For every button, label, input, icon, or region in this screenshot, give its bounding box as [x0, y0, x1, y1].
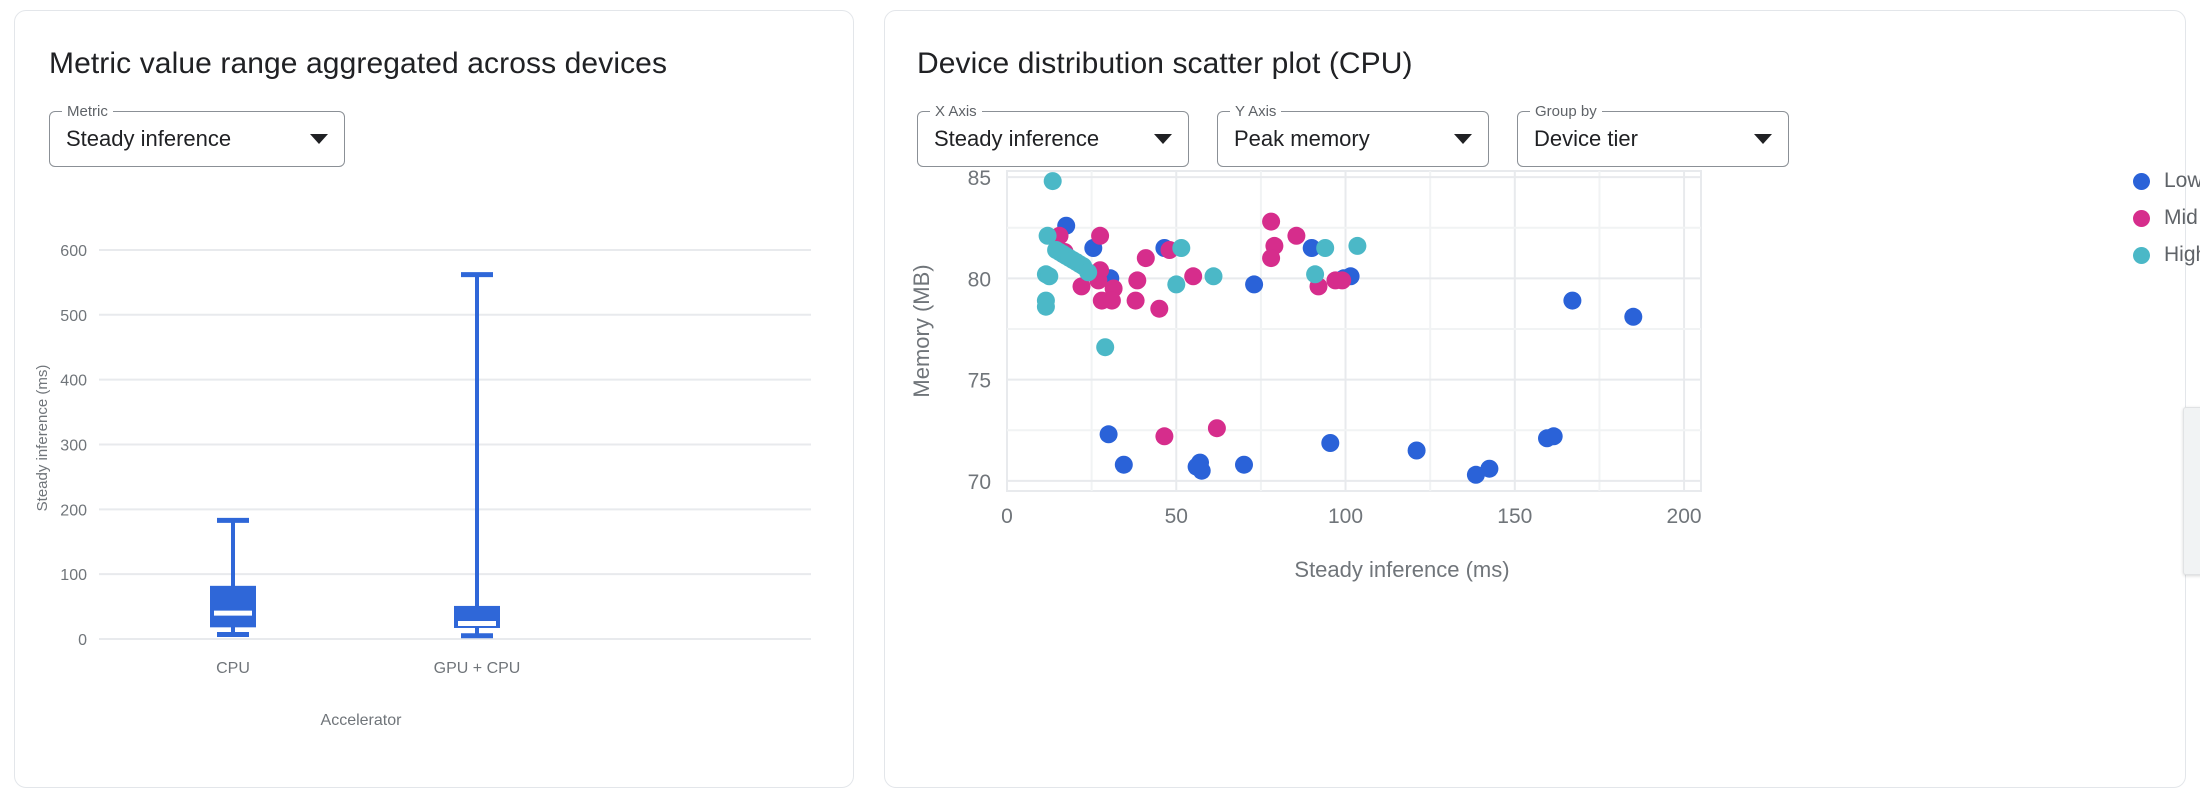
y-axis-select-value: Peak memory — [1234, 126, 1370, 152]
y-tick-label: 100 — [60, 567, 87, 584]
legend-dot-icon — [2133, 210, 2150, 227]
scatter-point[interactable] — [1205, 267, 1223, 285]
scatter-point[interactable] — [1184, 267, 1202, 285]
scatter-point[interactable] — [1128, 271, 1146, 289]
metric-select-value: Steady inference — [66, 126, 231, 152]
scatter-point[interactable] — [1262, 213, 1280, 231]
x-tick-label: 200 — [1667, 505, 1702, 528]
y-tick-label: 80 — [968, 268, 991, 291]
scatter-point[interactable] — [1127, 292, 1145, 310]
metric-select-label: Metric — [62, 102, 113, 122]
scatter-point[interactable] — [1316, 239, 1334, 257]
scatter-point[interactable] — [1100, 425, 1118, 443]
dashboard-root: Metric value range aggregated across dev… — [0, 0, 2200, 808]
scatter-point[interactable] — [1115, 456, 1133, 474]
scatter-plot-chart: 05010015020070758085Memory (MB)Steady in… — [895, 151, 2135, 751]
scatter-point[interactable] — [1137, 249, 1155, 267]
scatter-point[interactable] — [1037, 298, 1055, 316]
scatter-point[interactable] — [1079, 263, 1097, 281]
metric-select[interactable]: Metric Steady inference — [49, 111, 345, 167]
legend-item-mid-tier[interactable]: Mid tier — [2133, 206, 2200, 230]
chevron-down-icon — [1454, 134, 1472, 144]
scatter-point[interactable] — [1245, 275, 1263, 293]
scatter-point[interactable] — [1321, 434, 1339, 452]
x-category-label: GPU + CPU — [434, 660, 521, 677]
x-tick-label: 0 — [1001, 505, 1013, 528]
scatter-point[interactable] — [1262, 249, 1280, 267]
scatter-tooltip: Samsung Galaxy A51 - Steady inference (m… — [2183, 407, 2200, 575]
y-tick-label: 70 — [968, 471, 991, 494]
scatter-point[interactable] — [1563, 292, 1581, 310]
scatter-point[interactable] — [1040, 267, 1058, 285]
scatter-point[interactable] — [1096, 338, 1114, 356]
box-plot-chart: 0100200300400500600Steady inference (ms)… — [21, 221, 841, 781]
scatter-point[interactable] — [1091, 227, 1109, 245]
y-tick-label: 500 — [60, 308, 87, 325]
y-axis-title: Memory (MB) — [909, 264, 934, 397]
y-tick-label: 300 — [60, 437, 87, 454]
x-axis-select-value: Steady inference — [934, 126, 1099, 152]
x-tick-label: 100 — [1328, 505, 1363, 528]
chevron-down-icon — [310, 134, 328, 144]
legend-dot-icon — [2133, 173, 2150, 190]
scatter-point[interactable] — [1167, 275, 1185, 293]
scatter-point[interactable] — [1306, 265, 1324, 283]
y-axis-select-label: Y Axis — [1230, 102, 1281, 122]
legend-item-low-tier[interactable]: Low tier — [2133, 169, 2200, 193]
legend-label: High tier — [2164, 243, 2200, 267]
scatter-plot-card: Device distribution scatter plot (CPU) X… — [884, 10, 2186, 788]
legend-label: Low tier — [2164, 169, 2200, 193]
scatter-point[interactable] — [1287, 227, 1305, 245]
x-category-label: CPU — [216, 660, 250, 677]
x-axis-select-label: X Axis — [930, 102, 982, 122]
y-tick-label: 600 — [60, 243, 87, 260]
scatter-point[interactable] — [1348, 237, 1366, 255]
x-tick-label: 150 — [1497, 505, 1532, 528]
scatter-plot-title: Device distribution scatter plot (CPU) — [885, 11, 2185, 81]
y-tick-label: 400 — [60, 373, 87, 390]
legend-item-high-tier[interactable]: High tier — [2133, 243, 2200, 267]
group-by-select-label: Group by — [1530, 102, 1602, 122]
box-plot-card: Metric value range aggregated across dev… — [14, 10, 854, 788]
scatter-point[interactable] — [1208, 419, 1226, 437]
scatter-point[interactable] — [1172, 239, 1190, 257]
scatter-point[interactable] — [1235, 456, 1253, 474]
scatter-point[interactable] — [1150, 300, 1168, 318]
box-plot-controls: Metric Steady inference — [15, 81, 853, 167]
y-tick-label: 0 — [78, 632, 87, 649]
group-by-select-value: Device tier — [1534, 126, 1638, 152]
box-plot-box[interactable] — [210, 586, 256, 627]
y-tick-label: 200 — [60, 502, 87, 519]
box-plot-title: Metric value range aggregated across dev… — [15, 11, 853, 81]
scatter-point[interactable] — [1545, 427, 1563, 445]
y-tick-label: 85 — [968, 167, 991, 190]
x-tick-label: 50 — [1165, 505, 1188, 528]
scatter-point[interactable] — [1193, 462, 1211, 480]
x-axis-title: Accelerator — [321, 712, 403, 729]
x-axis-title: Steady inference (ms) — [1294, 557, 1509, 582]
legend-dot-icon — [2133, 247, 2150, 264]
chevron-down-icon — [1154, 134, 1172, 144]
y-axis-title: Steady inference (ms) — [34, 365, 51, 512]
scatter-point[interactable] — [1624, 308, 1642, 326]
scatter-point[interactable] — [1044, 172, 1062, 190]
legend-label: Mid tier — [2164, 206, 2200, 230]
scatter-point[interactable] — [1103, 292, 1121, 310]
y-tick-label: 75 — [968, 370, 991, 393]
scatter-point[interactable] — [1408, 442, 1426, 460]
scatter-point[interactable] — [1155, 427, 1173, 445]
scatter-point[interactable] — [1333, 271, 1351, 289]
scatter-point[interactable] — [1480, 460, 1498, 478]
chevron-down-icon — [1754, 134, 1772, 144]
scatter-legend: Low tierMid tierHigh tier — [2133, 169, 2200, 267]
